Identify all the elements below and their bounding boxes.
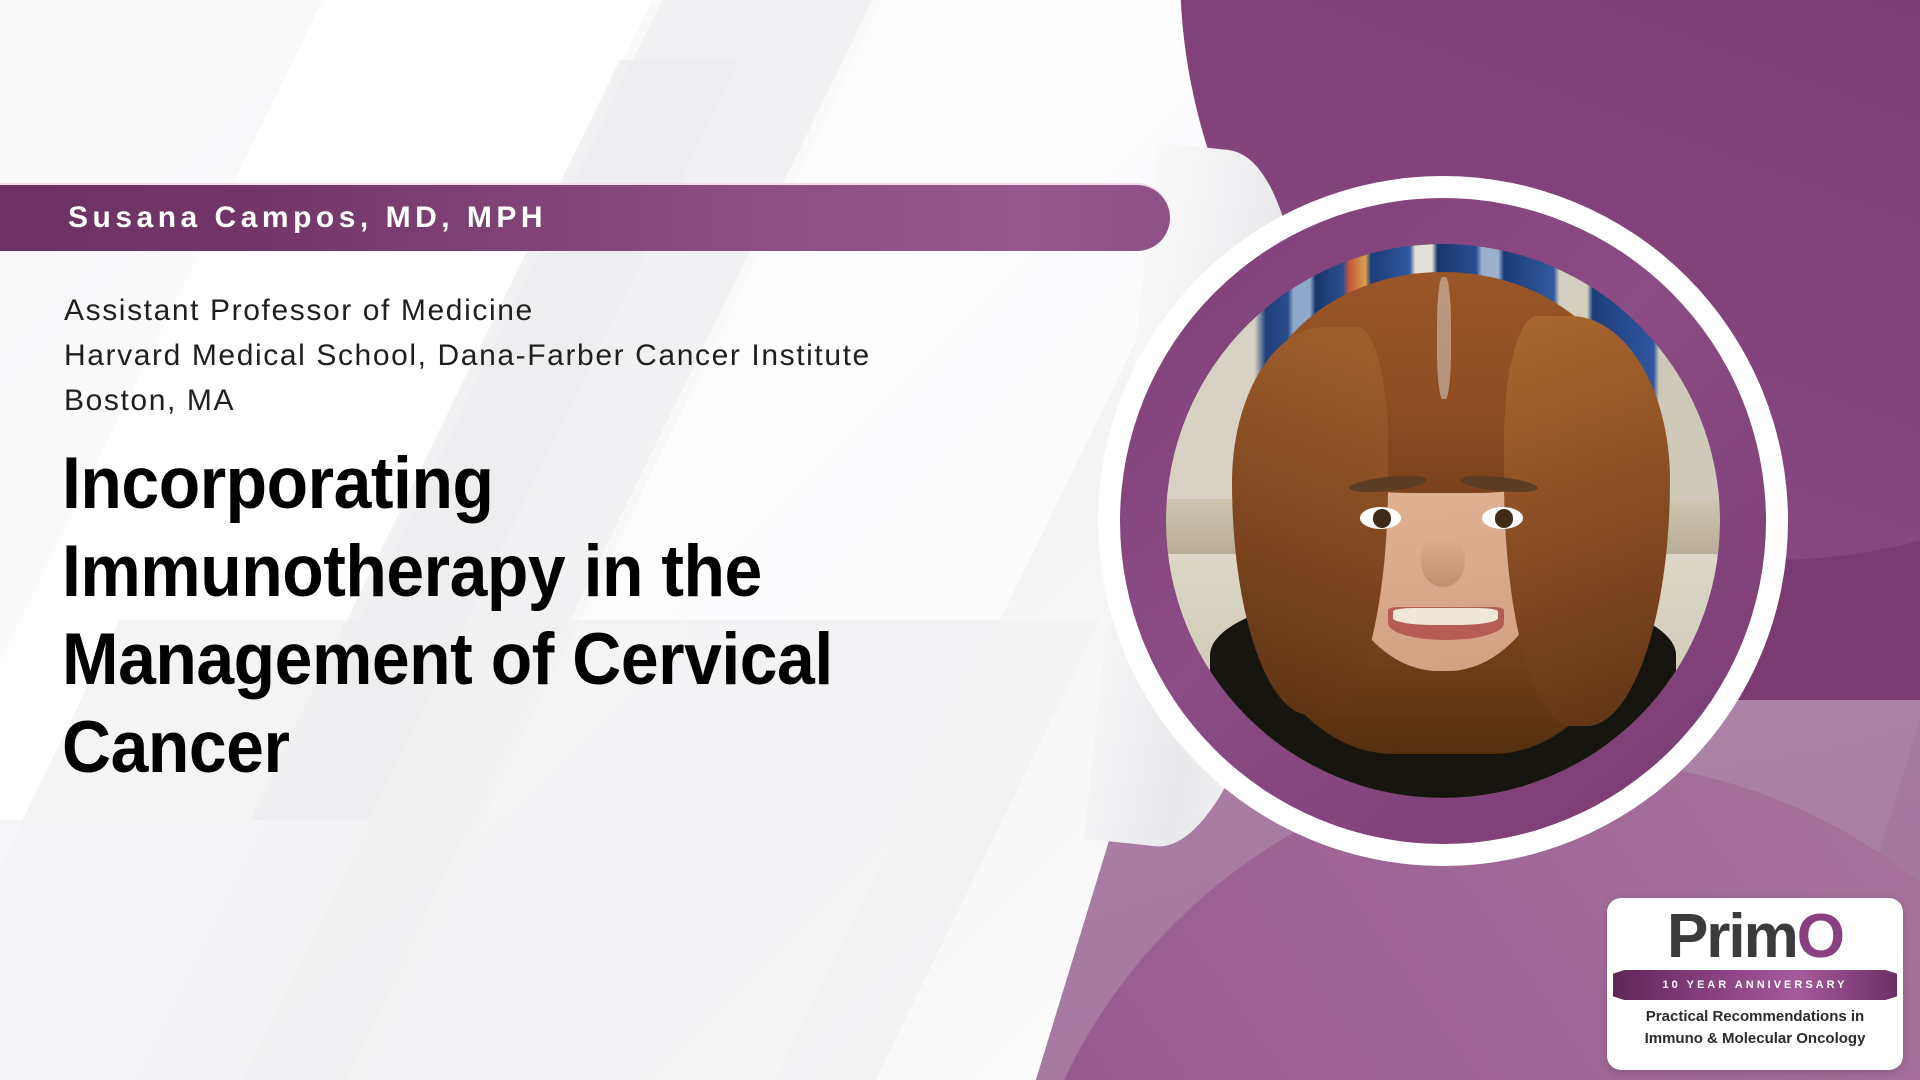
- speaker-name: Susana Campos, MD, MPH: [0, 201, 547, 235]
- affiliation-line-1: Assistant Professor of Medicine: [64, 288, 1084, 333]
- affiliation-line-3: Boston, MA: [64, 378, 1084, 423]
- speaker-affiliation-block: Assistant Professor of Medicine Harvard …: [64, 288, 1084, 423]
- logo-tagline-line-2: Immuno & Molecular Oncology: [1615, 1028, 1895, 1050]
- speaker-portrait: [1098, 176, 1788, 866]
- logo-wordmark-accent: O: [1797, 902, 1843, 971]
- affiliation-line-2: Harvard Medical School, Dana-Farber Canc…: [64, 333, 1084, 378]
- photo-mouth: [1388, 607, 1504, 640]
- logo-tagline: Practical Recommendations in Immuno & Mo…: [1615, 1006, 1895, 1050]
- logo-ribbon-text: 10 YEAR ANNIVERSARY: [1663, 979, 1848, 991]
- speaker-name-banner: Susana Campos, MD, MPH: [0, 185, 1170, 251]
- photo-pupil-right: [1495, 509, 1514, 528]
- photo-teeth: [1393, 608, 1498, 625]
- photo-pupil-left: [1373, 509, 1392, 528]
- primo-logo[interactable]: PrimO 10 YEAR ANNIVERSARY Practical Reco…: [1607, 898, 1903, 1070]
- portrait-photo: [1166, 244, 1720, 798]
- logo-wordmark: PrimO: [1607, 904, 1903, 970]
- photo-hair-part: [1437, 277, 1451, 399]
- presentation-title: Incorporating Immunotherapy in the Manag…: [62, 440, 1001, 792]
- logo-tagline-line-1: Practical Recommendations in: [1615, 1006, 1895, 1028]
- title-slide: Susana Campos, MD, MPH Assistant Profess…: [0, 0, 1920, 1080]
- logo-anniversary-ribbon: 10 YEAR ANNIVERSARY: [1613, 970, 1897, 1000]
- logo-wordmark-main: Prim: [1667, 902, 1797, 971]
